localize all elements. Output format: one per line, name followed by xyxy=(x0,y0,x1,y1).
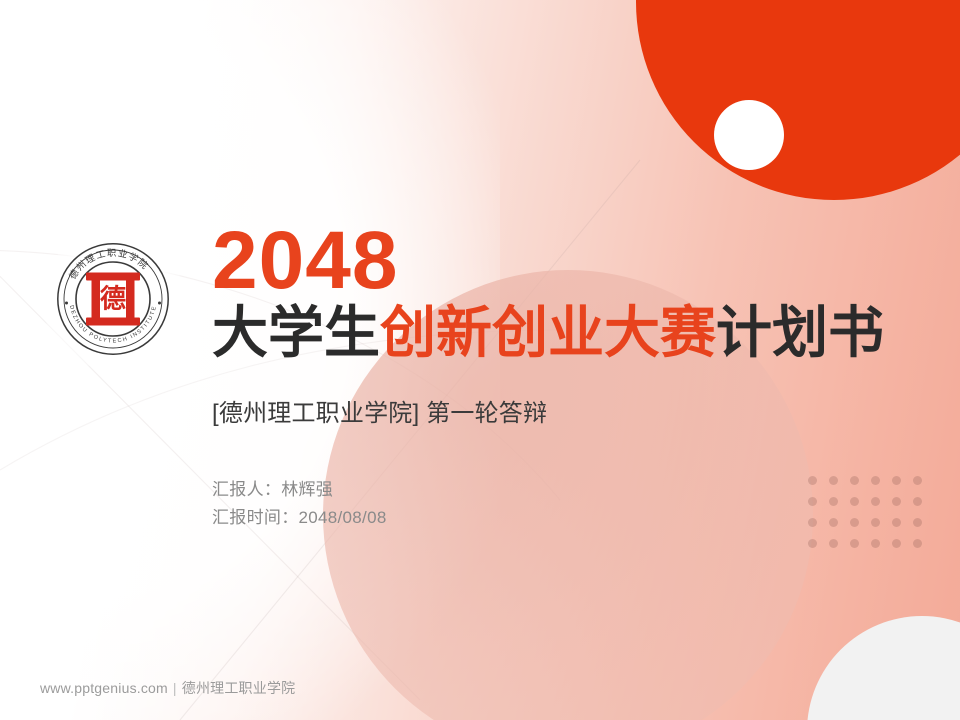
headline-part-highlight: 创新创业大赛 xyxy=(380,301,716,364)
page-title: 大学生创新创业大赛计划书 xyxy=(212,303,912,363)
svg-text:德: 德 xyxy=(100,285,126,315)
title-block: 2048 大学生创新创业大赛计划书 [德州理工职业学院] 第一轮答辩 汇报人：林… xyxy=(212,222,912,532)
footer-site: www.pptgenius.com xyxy=(40,680,168,696)
footer-separator: | xyxy=(173,680,177,696)
decorative-circle-white-small xyxy=(714,100,784,170)
presenter-name: 汇报人：林辉强 xyxy=(212,476,912,504)
presentation-slide: 德州理工职业学院 DEZHOU POLYTECH INSTITUTE 德 204… xyxy=(0,0,960,720)
university-logo-icon: 德州理工职业学院 DEZHOU POLYTECH INSTITUTE 德 xyxy=(55,241,171,357)
subtitle: [德州理工职业学院] 第一轮答辩 xyxy=(212,393,912,428)
headline-part-1: 大学生 xyxy=(212,301,380,364)
headline-part-3: 计划书 xyxy=(716,301,884,364)
presenter-meta: 汇报人：林辉强 汇报时间：2048/08/08 xyxy=(212,476,912,532)
presentation-date: 汇报时间：2048/08/08 xyxy=(212,504,912,532)
footer-org: 德州理工职业学院 xyxy=(182,680,296,696)
year-heading: 2048 xyxy=(212,222,912,301)
footer: www.pptgenius.com|德州理工职业学院 xyxy=(40,678,295,698)
